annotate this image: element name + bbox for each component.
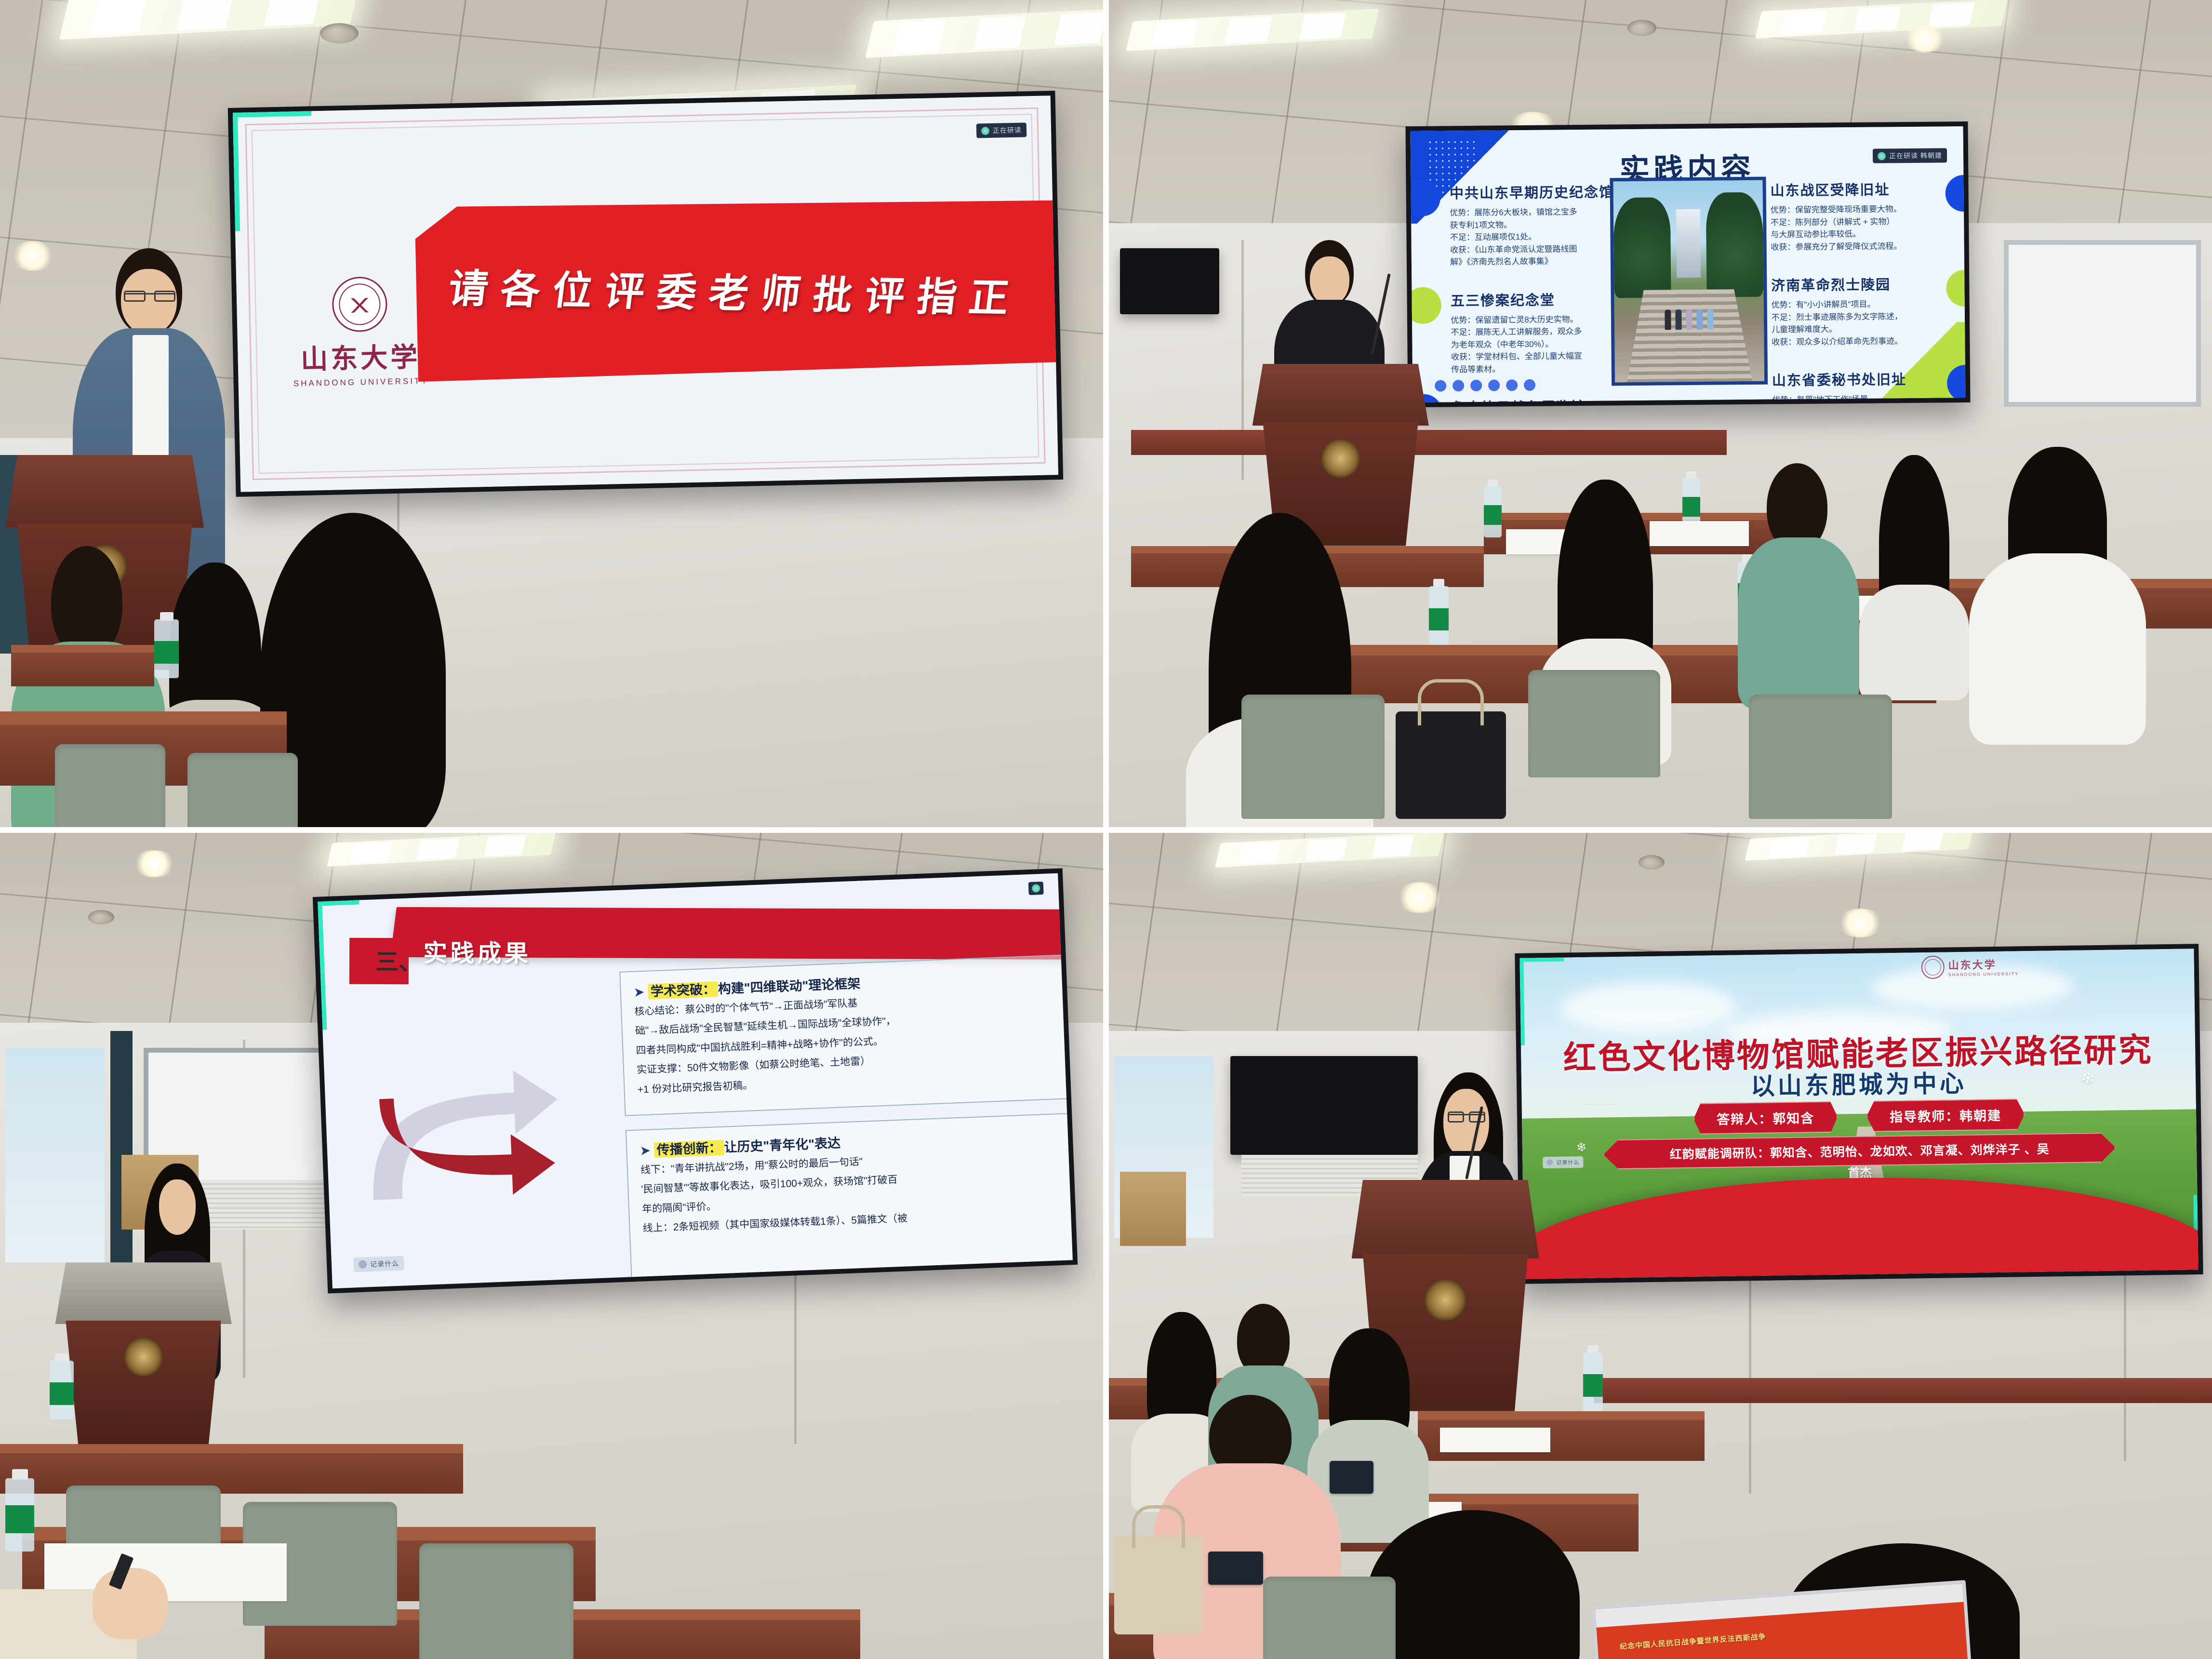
watermark-label: 正在研读 韩朝建 xyxy=(1889,151,1942,161)
prev-slide-icon[interactable] xyxy=(1435,380,1446,391)
smartphone[interactable] xyxy=(1330,1461,1374,1494)
chair xyxy=(187,753,298,827)
photo-collage: 山东大学 SHANDONG UNIVERSITY 请各位评委老师批评指正 正在研… xyxy=(0,0,2212,1659)
collage-panel-top-left: 山东大学 SHANDONG UNIVERSITY 请各位评委老师批评指正 正在研… xyxy=(0,0,1106,830)
item-line: 优势：复原"地下工作"场景。 xyxy=(1772,393,1938,403)
section-number: 三、 xyxy=(375,943,422,977)
item-line: 为老年观众（中老年30%）。 xyxy=(1451,337,1617,351)
chair xyxy=(1528,670,1661,777)
item-heading: 五三惨案纪念堂 xyxy=(1451,288,1617,310)
smoke-detector xyxy=(320,23,359,43)
projection-screen-content: 实践内容 中共山东早期历史纪念馆 优势：展陈分6大板块，镇馆之宝多 获专利1项文… xyxy=(1405,121,1970,408)
item-line: 不足：展陈无人工讲解服务，观众多 xyxy=(1451,325,1616,339)
watermark-dot-icon xyxy=(1031,884,1040,893)
downlight xyxy=(133,850,176,877)
audience-hand-writing xyxy=(0,1560,199,1659)
slide-practice-results: 三、 实践成果 ➤ 学术突破：构建"四维联动"理论框架 xyxy=(318,873,1072,1288)
bullet-circle-icon xyxy=(1411,287,1442,324)
sdu-name-cn: 山东大学 xyxy=(1948,959,1996,971)
cyan-corner-accent xyxy=(233,111,314,231)
collage-panel-top-right: 实践内容 中共山东早期历史纪念馆 优势：展陈分6大板块，镇馆之宝多 获专利1项文… xyxy=(1106,0,2212,830)
item-line: 传品等素材。 xyxy=(1451,362,1617,376)
slide-photo-memorial xyxy=(1610,177,1768,386)
sdu-seal-icon xyxy=(1921,955,1945,979)
dove-icon: ❄ xyxy=(1575,1139,1588,1156)
item-line: 优势：有"小小讲解员"项目。 xyxy=(1771,298,1937,312)
item-line: 儿童理解难度大。 xyxy=(1772,322,1937,336)
glasses-icon xyxy=(124,293,175,294)
water-bottle xyxy=(1429,579,1449,645)
collage-panel-bottom-right: 山东大学 SHANDONG UNIVERSITY ❄ ❄ ❄ 红色文化博物馆赋能… xyxy=(1106,830,2212,1659)
item-line: 收获：学堂材料包、全部儿童大幅宣 xyxy=(1451,350,1617,364)
slide-practice-content: 实践内容 中共山东早期历史纪念馆 优势：展陈分6大板块，镇馆之宝多 获专利1项文… xyxy=(1411,126,1966,402)
slide-item: 山东省委秘书处旧址 优势：复原"地下工作"场景。 不足：空间大小、展陈内容单薄。… xyxy=(1772,368,1939,403)
audience-desk xyxy=(11,645,155,686)
more-icon[interactable] xyxy=(1524,379,1535,391)
item-line: 不足：互动展项仅1处。 xyxy=(1450,230,1616,244)
water-bottle xyxy=(50,1353,74,1419)
item-line: 不足：陈列部分（讲解式 + 实物） xyxy=(1771,215,1936,229)
item-line: 优势：保留遗留亡灵8大历史实物。 xyxy=(1451,313,1616,327)
item-line: 解》《济南先烈名人故事集》 xyxy=(1450,255,1616,269)
podium-emblem-icon xyxy=(1321,439,1360,478)
window xyxy=(5,1048,105,1263)
presenter-tag: 答辩人：郭知含 xyxy=(1693,1101,1838,1135)
item-line: 收获：观众多以介绍革命先烈事迹。 xyxy=(1772,334,1937,348)
photo-top-right: 实践内容 中共山东早期历史纪念馆 优势：展陈分6大板块，镇馆之宝多 获专利1项文… xyxy=(1109,0,2212,827)
decorative-arrows xyxy=(367,1031,567,1240)
collage-panel-bottom-left: 三、 实践成果 ➤ 学术突破：构建"四维联动"理论框架 xyxy=(0,830,1106,1659)
item-line: 获专利1项文物。 xyxy=(1450,218,1615,232)
downlight xyxy=(11,241,54,271)
smoke-detector xyxy=(1627,20,1656,36)
sdu-logo-block: 山东大学 SHANDONG UNIVERSITY xyxy=(1921,954,2019,979)
downlight xyxy=(1396,882,1444,913)
backpack xyxy=(1396,711,1506,819)
advisor-tag: 指导教师：韩朝建 xyxy=(1866,1098,2025,1132)
slide-column-left: 中共山东早期历史纪念馆 优势：展陈分6大板块，镇馆之宝多 获专利1项文物。 不足… xyxy=(1450,181,1618,403)
watermark-dot-icon xyxy=(981,126,989,134)
watermark-label: 正在研读 xyxy=(992,125,1021,135)
photo-bottom-left: 三、 实践成果 ➤ 学术突破：构建"四维联动"理论框架 xyxy=(0,833,1103,1659)
slide-item: 中共山东早期历史纪念馆 优势：展陈分6大板块，镇馆之宝多 获专利1项文物。 不足… xyxy=(1450,181,1616,268)
item-line: 收获：参展充分了解受降仪式流程。 xyxy=(1771,240,1936,254)
projection-screen-results: 三、 实践成果 ➤ 学术突破：构建"四维联动"理论框架 xyxy=(313,868,1078,1293)
item-line: 不足：烈士事迹展陈多为文字陈述， xyxy=(1772,310,1937,324)
slide-item: 五三惨案纪念堂 优势：保留遗留亡灵8大历史实物。 不足：展陈无人工讲解服务，观众… xyxy=(1451,288,1617,375)
podium-emblem-icon xyxy=(1425,1280,1466,1321)
wall-monitor xyxy=(1120,248,1219,314)
water-bottle xyxy=(5,1469,34,1552)
slide-watermark-badge: 正在研读 xyxy=(976,122,1026,138)
paper-sheet xyxy=(1440,1428,1550,1452)
laptop-banner-text: 纪念中国人民抗日战争暨世界反法西斯战争 xyxy=(1620,1619,1944,1651)
item-heading: 中共山东早期历史纪念馆 xyxy=(1450,181,1616,203)
watermark-dot-icon xyxy=(1878,152,1886,160)
podium-emblem-icon xyxy=(124,1338,163,1377)
handbag xyxy=(1114,1535,1202,1634)
watermark-label: 记录什么 xyxy=(370,1258,400,1269)
podium-left xyxy=(55,1262,231,1444)
block-heading-highlight: 传播创新： xyxy=(654,1139,724,1158)
projection-screen-thanks: 山东大学 SHANDONG UNIVERSITY 请各位评委老师批评指正 正在研… xyxy=(227,91,1063,496)
slide-watermark-badge xyxy=(1028,882,1043,895)
item-heading: 山东省委秘书处旧址 xyxy=(1772,368,1938,390)
result-block-academic: ➤ 学术突破：构建"四维联动"理论框架 核心结论：蔡公时的"个体气节"→正面战场… xyxy=(619,953,1072,1116)
watermark-dot-icon xyxy=(1546,1159,1553,1165)
downlight xyxy=(1837,909,1883,937)
notes-icon[interactable] xyxy=(1506,379,1518,391)
hand xyxy=(93,1568,168,1639)
presentation-toolbar[interactable] xyxy=(1429,376,1541,395)
chair xyxy=(55,744,165,827)
chair xyxy=(419,1543,573,1659)
smoke-detector xyxy=(1639,855,1665,870)
slide-watermark-badge-corner: 记录什么 xyxy=(353,1256,404,1272)
watermark-label: 记录什么 xyxy=(1556,1158,1579,1166)
item-heading: 山东战区受降旧址 xyxy=(1770,178,1936,200)
chair xyxy=(1241,695,1385,818)
audience-member xyxy=(1738,463,1859,695)
photo-bottom-right: 山东大学 SHANDONG UNIVERSITY ❄ ❄ ❄ 红色文化博物馆赋能… xyxy=(1109,833,2212,1659)
presenter-face xyxy=(121,269,177,335)
item-heading: 鲁中抗日战争展览馆 xyxy=(1452,396,1618,403)
section-title: 实践成果 xyxy=(423,934,531,969)
water-bottle xyxy=(1484,480,1502,537)
slide-watermark-badge: 记录什么 xyxy=(1543,1156,1583,1168)
slide-item: 济南革命烈士陵园 优势：有"小小讲解员"项目。 不足：烈士事迹展陈多为文字陈述，… xyxy=(1771,273,1938,348)
result-block-communication: ➤ 传播创新：让历史"青年化"表达 线下："青年讲抗战"2场，用"蔡公时的最后一… xyxy=(626,1112,1072,1279)
pen-icon[interactable] xyxy=(1470,380,1482,391)
item-line: 优势：展陈分6大板块，镇馆之宝多 xyxy=(1450,206,1615,220)
block-heading-highlight: 学术突破： xyxy=(648,981,718,999)
watermark-dot-icon xyxy=(359,1260,367,1269)
item-line: 优势：保留完整受降现场重要大物。 xyxy=(1771,203,1936,217)
item-line: 与大屏互动参比率较低。 xyxy=(1771,227,1936,241)
smartphone[interactable] xyxy=(1208,1552,1263,1585)
pointer-icon[interactable] xyxy=(1488,379,1500,391)
bullet-circle-icon xyxy=(1946,270,1966,307)
item-heading: 济南革命烈士陵园 xyxy=(1771,273,1937,295)
slide-cover-title: 山东大学 SHANDONG UNIVERSITY ❄ ❄ ❄ 红色文化博物馆赋能… xyxy=(1519,949,2198,1279)
sdu-seal-icon xyxy=(331,276,387,332)
projection-screen-cover: 山东大学 SHANDONG UNIVERSITY ❄ ❄ ❄ 红色文化博物馆赋能… xyxy=(1515,944,2203,1284)
audience-member xyxy=(1969,447,2145,728)
next-slide-icon[interactable] xyxy=(1452,380,1464,391)
photo-top-left: 山东大学 SHANDONG UNIVERSITY 请各位评委老师批评指正 正在研… xyxy=(0,0,1103,827)
wall-monitor xyxy=(1230,1056,1418,1155)
slide-thanks-text: 请各位评委老师批评指正 xyxy=(446,256,1025,323)
water-bottle xyxy=(1583,1345,1603,1411)
water-bottle xyxy=(154,612,178,678)
slide-column-right: 山东战区受降旧址 优势：保留完整受降现场重要大物。 不足：陈列部分（讲解式 + … xyxy=(1770,178,1938,403)
sdu-name-en: SHANDONG UNIVERSITY xyxy=(1948,971,2019,977)
block-heading-rest: 构建"四维联动"理论框架 xyxy=(718,976,861,996)
block-heading-rest: 让历史"青年化"表达 xyxy=(724,1136,841,1154)
audience-member xyxy=(1859,455,1970,686)
slide-watermark-badge: 正在研读 韩朝建 xyxy=(1873,148,1947,163)
chair xyxy=(1263,1577,1396,1659)
slide-item: 山东战区受降旧址 优势：保留完整受降现场重要大物。 不足：陈列部分（讲解式 + … xyxy=(1770,178,1937,254)
item-line: 收获：《山东革命党派认定暨路线图 xyxy=(1450,242,1616,256)
cardboard-box xyxy=(1120,1172,1186,1246)
slide-thanks: 山东大学 SHANDONG UNIVERSITY 请各位评委老师批评指正 正在研… xyxy=(233,95,1058,492)
whiteboard xyxy=(2004,240,2201,407)
slide-item: 鲁中抗日战争展览馆 优势：设"英烈长廊"。 不足：场馆革命烈士故事未充分展开。 … xyxy=(1452,396,1618,403)
chair xyxy=(1749,695,1892,818)
